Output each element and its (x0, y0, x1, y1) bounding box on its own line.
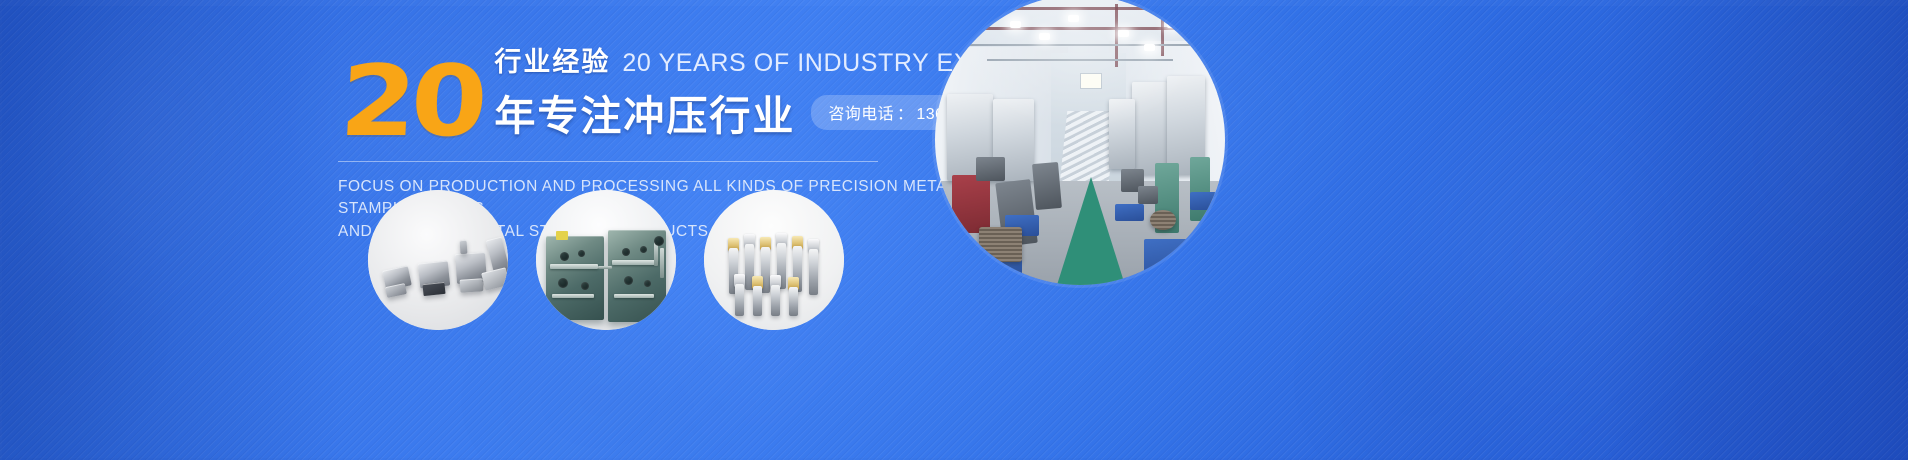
shell-part (460, 240, 468, 254)
die-hole (560, 252, 569, 261)
die-pin-head (654, 236, 664, 246)
die-hole (578, 250, 585, 257)
phone-badge-label: 咨询电话 (828, 106, 894, 123)
die-hole (558, 278, 568, 288)
die-hole (622, 248, 630, 256)
shell-part (422, 282, 445, 296)
progressive-die-photo (536, 190, 676, 330)
terminal-pin (753, 286, 762, 316)
connector-shells-photo (368, 190, 508, 330)
die-pin (598, 266, 612, 269)
die-hole (581, 282, 589, 290)
die-hole (624, 276, 633, 285)
product-circle-terminal-pins[interactable] (704, 190, 844, 330)
die-hole (640, 246, 647, 253)
shell-part (460, 278, 484, 293)
die-marker (556, 231, 568, 240)
photo-light-glow (935, 0, 1225, 285)
phone-badge-separator: ： (897, 106, 913, 123)
headline-row: 20 行业经验 20 YEARS OF INDUSTRY EXPERIENCE … (338, 40, 958, 144)
years-number: 20 (338, 60, 484, 144)
factory-photo-circle[interactable] (935, 0, 1225, 285)
terminal-pin (735, 284, 744, 316)
product-circle-progressive-die[interactable] (536, 190, 676, 330)
terminal-pins-photo (704, 190, 844, 330)
headline-cn-big: 年专注冲压行业 (494, 82, 795, 142)
die-slot (550, 264, 598, 269)
headline-divider (338, 161, 878, 162)
terminal-pin (809, 249, 818, 295)
die-slot (612, 260, 658, 265)
terminal-pin (771, 285, 780, 316)
die-pin (660, 248, 664, 278)
die-plate (546, 236, 604, 320)
die-slot (614, 294, 654, 298)
terminal-pin (789, 287, 798, 316)
headline-cn-small: 行业经验 (494, 40, 610, 79)
die-hole (644, 280, 651, 287)
product-circle-connector-shells[interactable] (368, 190, 508, 330)
promo-banner: 20 行业经验 20 YEARS OF INDUSTRY EXPERIENCE … (0, 0, 1908, 460)
die-slot (552, 294, 594, 298)
factory-workshop-photo (935, 0, 1225, 285)
